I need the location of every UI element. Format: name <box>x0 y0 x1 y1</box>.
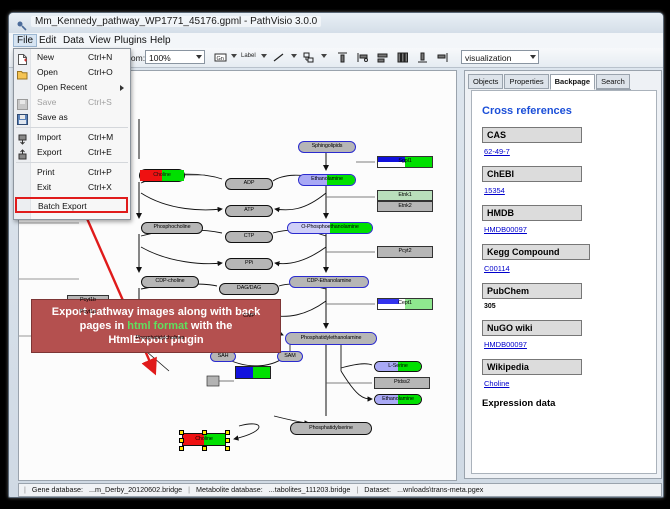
datanode-icon[interactable]: Gn <box>213 50 228 65</box>
selection-handle[interactable] <box>225 438 230 443</box>
side-panel: Objects Properties Backpage Search Legen… <box>464 70 662 479</box>
node-cept1[interactable]: Cept1 <box>377 298 433 310</box>
node-phosphocholine[interactable]: Phosphocholine <box>141 222 203 234</box>
node-label: CDP-choline <box>155 279 184 284</box>
line-dropdown-icon[interactable] <box>291 54 297 58</box>
status-metabolite-db-value: ...tabolites_111203.bridge <box>269 485 351 494</box>
node-label: Pcyt1b <box>80 298 96 303</box>
file-menu-dropdown[interactable]: New Ctrl+N Open Ctrl+O Open Recent Save … <box>13 48 131 220</box>
selection-handle[interactable] <box>225 446 230 451</box>
db-value-cas[interactable]: 62-49-7 <box>484 147 656 156</box>
menu-data[interactable]: Data <box>59 34 88 47</box>
menu-item-export-shortcut: Ctrl+E <box>88 147 112 157</box>
node-label: CDP-Ethanolamine <box>307 279 352 284</box>
db-header-chebi: ChEBI <box>482 166 582 182</box>
menu-item-exit-label[interactable]: Exit <box>37 182 51 192</box>
node-label: CTP <box>244 234 254 239</box>
db-header-pubchem: PubChem <box>482 283 582 299</box>
node-label: Choline <box>195 437 213 442</box>
node-dag[interactable]: DAG/DAG <box>219 283 279 295</box>
node-sphingolipids[interactable]: Sphingolipids <box>298 141 356 153</box>
node-label: ADP <box>244 181 255 186</box>
selection-handle[interactable] <box>179 438 184 443</box>
status-gene-db-value: ...m_Derby_20120602.bridge <box>89 485 182 494</box>
cross-references-heading: Cross references <box>482 105 656 117</box>
db-value-wikipedia[interactable]: Choline <box>484 379 656 388</box>
datanode-dropdown-icon[interactable] <box>231 54 237 58</box>
db-header-cas: CAS <box>482 127 582 143</box>
db-value-pubchem: 305 <box>484 303 656 310</box>
menu-item-export-label[interactable]: Export <box>37 147 62 157</box>
node-ethanolamine-bottom[interactable]: Ethanolamine <box>374 394 422 405</box>
node-sgpl1[interactable]: Sgpl1 <box>377 156 433 168</box>
align-left-icon[interactable] <box>355 50 370 65</box>
status-sep: | <box>188 485 190 494</box>
node-ppi[interactable]: PPi <box>225 258 273 270</box>
import-icon <box>17 132 28 143</box>
side-panel-tabs: Objects Properties Backpage Search Legen… <box>468 74 661 88</box>
node-label: DAG/DAG <box>237 286 261 291</box>
node-etnk2[interactable]: Etnk2 <box>377 201 433 212</box>
menu-help[interactable]: Help <box>146 34 175 47</box>
node-ptdss2[interactable]: Ptdss2 <box>374 377 430 389</box>
legend-fill-right <box>253 367 270 378</box>
node-label: Phosphatidylethanolamine <box>301 336 362 341</box>
db-header-kegg: Kegg Compound <box>482 244 590 260</box>
node-label: L-Serine <box>388 364 408 369</box>
db-header-wikipedia: Wikipedia <box>482 359 582 375</box>
node-o-phosphoethanolamine[interactable]: O-Phosphoethanolamine <box>287 222 373 234</box>
menu-item-open-recent-label[interactable]: Open Recent <box>37 82 87 92</box>
node-label: Ethanolamine <box>382 397 414 402</box>
node-atp[interactable]: ATP <box>225 205 273 217</box>
menu-divider <box>16 162 128 163</box>
line-icon[interactable] <box>271 50 286 65</box>
node-cdp-ethanolamine[interactable]: CDP-Ethanolamine <box>289 276 369 288</box>
annotation-callout: Export pathway images along with back pa… <box>31 299 281 353</box>
status-dataset-label: Dataset: <box>364 485 391 494</box>
new-document-icon <box>17 52 28 63</box>
db-value-hmdb[interactable]: HMDB00097 <box>484 225 656 234</box>
db-value-nugo[interactable]: HMDB00097 <box>484 340 656 349</box>
align-bottom-icon[interactable] <box>415 50 430 65</box>
align-center-icon[interactable] <box>375 50 390 65</box>
save-icon <box>17 97 28 108</box>
menu-item-save-shortcut: Ctrl+S <box>88 97 112 107</box>
menu-item-exit-shortcut: Ctrl+X <box>88 182 112 192</box>
screenshot-root: Mm_Kennedy_pathway_WP1771_45176.gpml - P… <box>0 0 670 509</box>
annotation-highlight: html format <box>127 320 188 332</box>
node-phosphatidylserine[interactable]: Phosphatidylserine <box>290 422 372 435</box>
zoom-value: 100% <box>149 53 171 63</box>
menu-item-batch-export-label: Batch Export <box>38 201 87 211</box>
interaction-icon[interactable] <box>301 50 316 65</box>
menu-item-open-label[interactable]: Open <box>37 67 58 77</box>
menu-item-new-shortcut: Ctrl+N <box>88 52 112 62</box>
selection-handle[interactable] <box>202 430 207 435</box>
save-as-icon <box>17 112 28 123</box>
node-choline-top[interactable]: Choline <box>139 169 185 182</box>
interaction-dropdown-icon[interactable] <box>321 54 327 58</box>
tab-search[interactable]: Search <box>596 74 630 89</box>
node-label: SAH <box>218 354 229 359</box>
selection-handle[interactable] <box>225 430 230 435</box>
pathvisio-window: Mm_Kennedy_pathway_WP1771_45176.gpml - P… <box>8 12 664 498</box>
node-label: Sphingolipids <box>312 144 343 149</box>
node-label: Ptdss2 <box>394 380 410 385</box>
status-bar: | Gene database: ...m_Derby_20120602.bri… <box>18 483 662 497</box>
backpage-content: Cross references CAS 62-49-7 ChEBI 15354… <box>471 90 657 474</box>
node-label: O-Phosphoethanolamine <box>301 225 359 230</box>
selection-handle[interactable] <box>179 430 184 435</box>
visualization-value: visualization <box>465 53 511 63</box>
menu-file[interactable]: File <box>13 34 37 47</box>
export-icon <box>17 147 28 158</box>
node-ethanolamine-top[interactable]: Ethanolamine <box>298 174 356 186</box>
label-dropdown-icon[interactable] <box>261 54 267 58</box>
tab-objects[interactable]: Objects <box>468 74 503 89</box>
menu-plugins[interactable]: Plugins <box>110 34 151 47</box>
status-sep: | <box>356 485 358 494</box>
menu-item-print-shortcut: Ctrl+P <box>88 167 112 177</box>
node-label: Choline <box>153 173 171 178</box>
window-title: Mm_Kennedy_pathway_WP1771_45176.gpml - P… <box>31 16 321 27</box>
node-ctp[interactable]: CTP <box>225 231 273 243</box>
align-top-icon[interactable] <box>335 50 350 65</box>
menu-item-batch-export[interactable]: Batch Export <box>15 197 128 213</box>
status-sep: | <box>24 485 26 494</box>
node-label: Phosphocholine <box>154 225 191 230</box>
folder-open-icon <box>17 67 28 78</box>
node-label: Etnk2 <box>398 204 411 209</box>
menu-item-print-label[interactable]: Print <box>37 167 54 177</box>
status-metabolite-db-label: Metabolite database: <box>196 485 263 494</box>
annotation-line2: pages in html format with the <box>52 319 260 333</box>
menu-divider <box>16 127 128 128</box>
status-dataset-value: ...wnloads\trans-meta.pgex <box>397 485 483 494</box>
menu-item-import-shortcut: Ctrl+M <box>88 132 113 142</box>
node-label: ATP <box>244 208 254 213</box>
node-phosphatidylethanolamine[interactable]: Phosphatidylethanolamine <box>285 332 377 345</box>
node-label: Phosphatidylcholines <box>136 336 185 341</box>
db-value-kegg[interactable]: C00114 <box>484 264 656 273</box>
node-label: CMP <box>243 314 255 319</box>
node-etnk1[interactable]: Etnk1 <box>377 190 433 201</box>
menu-item-open-shortcut: Ctrl+O <box>88 67 113 77</box>
submenu-arrow-icon <box>120 85 124 91</box>
node-label: SAM <box>284 354 295 359</box>
annotation-line2-a: pages in <box>80 320 128 332</box>
tab-properties[interactable]: Properties <box>504 74 548 89</box>
title-bar: Mm_Kennedy_pathway_WP1771_45176.gpml - P… <box>9 13 663 33</box>
expression-data-heading: Expression data <box>482 398 656 409</box>
menu-item-import-label[interactable]: Import <box>37 132 61 142</box>
node-l-serine[interactable]: L-Serine <box>374 361 422 372</box>
expression-legend-box <box>235 366 271 379</box>
db-header-nugo: NuGO wiki <box>482 320 582 336</box>
visualization-combo[interactable]: visualization <box>461 50 539 64</box>
node-adp[interactable]: ADP <box>225 178 273 190</box>
node-cdp-choline[interactable]: CDP-choline <box>141 276 199 288</box>
tab-backpage[interactable]: Backpage <box>550 74 595 90</box>
chevron-down-icon <box>196 55 202 59</box>
node-label: Ethanolamine <box>311 177 343 182</box>
db-header-hmdb: HMDB <box>482 205 582 221</box>
node-label: Pcyt2 <box>399 249 412 254</box>
svg-text:Gn: Gn <box>217 56 224 62</box>
node-expression-box <box>378 299 399 304</box>
node-label: Etnk1 <box>398 193 411 198</box>
menu-item-save-label: Save <box>37 97 56 107</box>
distribute-horizontal-icon[interactable] <box>395 50 410 65</box>
label-button[interactable]: Label <box>241 53 256 59</box>
node-label: Pcyt1a <box>80 310 96 315</box>
status-gene-db-label: Gene database: <box>32 485 83 494</box>
zoom-combo[interactable]: 100% <box>145 50 205 64</box>
selection-handle[interactable] <box>179 446 184 451</box>
chevron-down-icon <box>530 55 536 59</box>
node-label: Cept1 <box>398 301 412 306</box>
node-label: Phosphatidylserine <box>309 426 353 431</box>
align-right-icon[interactable] <box>435 50 450 65</box>
node-pcyt2[interactable]: Pcyt2 <box>377 246 433 258</box>
app-icon <box>16 18 27 29</box>
menu-edit[interactable]: Edit <box>35 34 60 47</box>
db-value-chebi[interactable]: 15354 <box>484 186 656 195</box>
node-label: Sgpl1 <box>398 159 411 164</box>
annotation-line2-b: with the <box>188 320 233 332</box>
menu-item-save-as-label[interactable]: Save as <box>37 112 68 122</box>
menu-bar: File Edit Data View Plugins Help <box>9 33 663 49</box>
selection-handle[interactable] <box>202 446 207 451</box>
node-label: PPi <box>245 261 253 266</box>
menu-item-new-label[interactable]: New <box>37 52 54 62</box>
